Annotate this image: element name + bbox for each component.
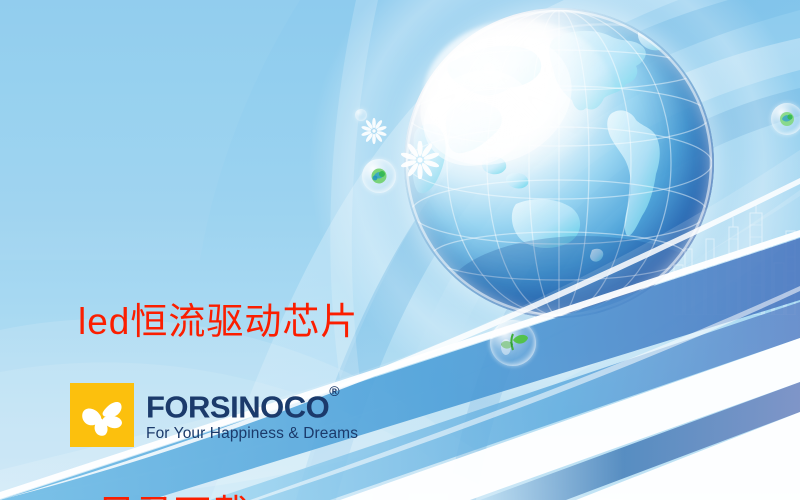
headline-line-1: led恒流驱动芯片 xyxy=(78,290,358,354)
logo-text-block: FORSINOCO® For Your Happiness & Dreams xyxy=(146,383,358,443)
bubble-leaf xyxy=(490,320,536,366)
forsinoco-pinwheel-flower-icon xyxy=(70,383,134,447)
registered-trademark-icon: ® xyxy=(329,383,339,399)
forsinoco-logo: FORSINOCO® For Your Happiness & Dreams xyxy=(70,383,358,447)
bubble-edge-right xyxy=(771,103,800,135)
daisy-flower-large-icon xyxy=(401,141,439,179)
headline-text: led恒流驱动芯片 目录下载 xyxy=(78,162,358,500)
banner-root: led恒流驱动芯片 目录下载 FORSINOCO® For Your Happi… xyxy=(0,0,800,500)
bubble-globe-small xyxy=(362,159,396,193)
logo-wordmark: FORSINOCO® xyxy=(146,385,358,423)
logo-tagline: For Your Happiness & Dreams xyxy=(146,425,358,443)
daisy-flower-small-icon xyxy=(361,118,387,144)
headline-line-2: 目录下载 xyxy=(78,482,358,500)
bubble-tiny xyxy=(355,109,367,121)
logo-wordmark-text: FORSINOCO xyxy=(146,389,329,424)
